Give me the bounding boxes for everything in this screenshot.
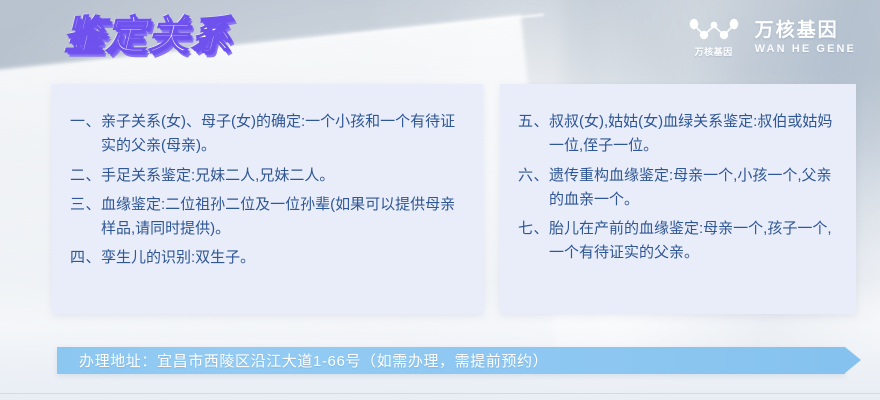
clause-number: 四、: [70, 246, 101, 270]
brand-logo: 万核基因 万核基因 WAN HE GENE: [687, 18, 856, 58]
brand-name-en: WAN HE GENE: [755, 43, 856, 55]
panel-right-body: 五、 叔叔(女),姑姑(女)血绿关系鉴定:叔伯或姑妈一位,侄子一位。 六、 遗传…: [500, 84, 856, 266]
molecule-network-icon: [687, 18, 741, 42]
brand-wordmark: 万核基因 WAN HE GENE: [755, 21, 856, 56]
background-bottom-rule: [0, 393, 880, 394]
clause-text: 遗传重构血缘鉴定:母亲一个,小孩一个,父亲的血亲一个。: [549, 164, 840, 213]
clause-number: 二、: [70, 164, 101, 188]
address-ribbon: 办理地址：宜昌市西陵区沿江大道1-66号（如需办理，需提前预约）: [57, 347, 845, 374]
list-item: 六、 遗传重构血缘鉴定:母亲一个,小孩一个,父亲的血亲一个。: [518, 164, 840, 213]
clause-number: 七、: [518, 217, 549, 241]
brand-mark: 万核基因: [687, 18, 741, 58]
list-item: 七、 胎儿在产前的血缘鉴定:母亲一个,孩子一个,一个有待证实的父亲。: [518, 217, 840, 266]
clause-number: 三、: [70, 193, 101, 217]
clause-text: 胎儿在产前的血缘鉴定:母亲一个,孩子一个,一个有待证实的父亲。: [549, 217, 840, 266]
address-text: 办理地址：宜昌市西陵区沿江大道1-66号（如需办理，需提前预约）: [57, 350, 548, 371]
panel-left-body: 一、 亲子关系(女)、母子(女)的确定:一个小孩和一个有待证实的父亲(母亲)。 …: [52, 84, 483, 271]
page-title: 鉴定关系: [64, 16, 232, 56]
list-item: 三、 血缘鉴定:二位祖孙二位及一位孙辈(如果可以提供母亲样品,请同时提供)。: [70, 193, 467, 242]
ribbon-arrow-tip: [845, 347, 861, 373]
clause-text: 叔叔(女),姑姑(女)血绿关系鉴定:叔伯或姑妈一位,侄子一位。: [549, 110, 840, 159]
list-item: 五、 叔叔(女),姑姑(女)血绿关系鉴定:叔伯或姑妈一位,侄子一位。: [518, 110, 840, 159]
clause-text: 孪生儿的识别:双生子。: [101, 246, 467, 270]
clause-number: 六、: [518, 164, 549, 188]
clause-text: 血缘鉴定:二位祖孙二位及一位孙辈(如果可以提供母亲样品,请同时提供)。: [101, 193, 467, 242]
brand-name-cn: 万核基因: [755, 21, 856, 42]
list-item: 一、 亲子关系(女)、母子(女)的确定:一个小孩和一个有待证实的父亲(母亲)。: [70, 110, 467, 159]
panel-left: 一、 亲子关系(女)、母子(女)的确定:一个小孩和一个有待证实的父亲(母亲)。 …: [52, 84, 483, 314]
brand-mark-label: 万核基因: [695, 45, 733, 58]
list-item: 二、 手足关系鉴定:兄妹二人,兄妹二人。: [70, 164, 467, 188]
list-item: 四、 孪生儿的识别:双生子。: [70, 246, 467, 270]
clause-number: 五、: [518, 110, 549, 134]
clause-text: 亲子关系(女)、母子(女)的确定:一个小孩和一个有待证实的父亲(母亲)。: [101, 110, 467, 159]
poster-canvas: 鉴定关系: [0, 0, 880, 400]
clause-number: 一、: [70, 110, 101, 134]
panel-right: 五、 叔叔(女),姑姑(女)血绿关系鉴定:叔伯或姑妈一位,侄子一位。 六、 遗传…: [500, 84, 856, 314]
content-panels: 一、 亲子关系(女)、母子(女)的确定:一个小孩和一个有待证实的父亲(母亲)。 …: [52, 84, 856, 314]
clause-text: 手足关系鉴定:兄妹二人,兄妹二人。: [101, 164, 467, 188]
